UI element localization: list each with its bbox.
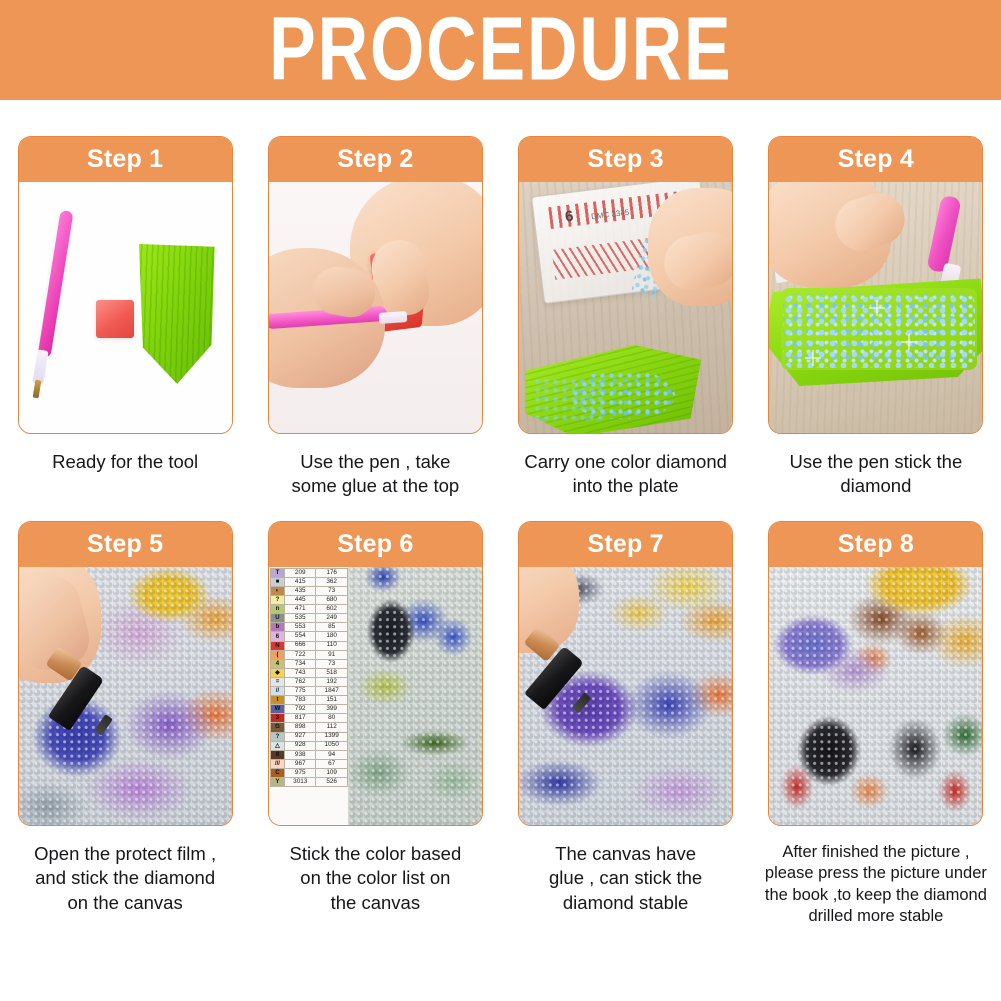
color-list-row: 473473 [270, 659, 347, 668]
color-symbol-cell: // [270, 687, 284, 696]
step-7-image [519, 567, 732, 825]
color-list-row: Y3013526 [270, 777, 347, 786]
color-count-cell: 67 [316, 759, 347, 768]
color-count-cell: 399 [316, 705, 347, 714]
color-list-row: ◆743518 [270, 668, 347, 677]
color-count-cell: 602 [316, 605, 347, 614]
color-list-row: G898112 [270, 723, 347, 732]
color-list-row: ◐43573 [270, 587, 347, 596]
color-list-row: ?9271399 [270, 732, 347, 741]
color-count-cell: 249 [316, 614, 347, 623]
step-card-3: Step 3 6 DMC 3345 [501, 136, 751, 499]
step-card-2: Step 2 Use the pen , take some glue at t… [250, 136, 500, 499]
color-list-row: △9281050 [270, 741, 347, 750]
color-list-row: ■415362 [270, 577, 347, 586]
color-symbol-cell: C [270, 768, 284, 777]
color-list-row: W792399 [270, 705, 347, 714]
color-list-row: 893894 [270, 750, 347, 759]
color-symbol-cell: ◆ [270, 668, 284, 677]
step-8-image [769, 567, 982, 825]
color-symbol-cell: b [270, 623, 284, 632]
color-code-cell: 817 [285, 714, 316, 723]
color-code-cell: 967 [285, 759, 316, 768]
color-list-table: T209176■415362◐43573?445680n471602U53524… [270, 568, 348, 787]
step-card-1: Step 1 Ready for the tool [0, 136, 250, 499]
step-7-caption: The canvas have glue , can stick the dia… [510, 842, 742, 915]
color-code-cell: 722 [285, 650, 316, 659]
color-count-cell: 91 [316, 650, 347, 659]
color-code-cell: 3013 [285, 777, 316, 786]
color-count-cell: 110 [316, 641, 347, 650]
drill-texture-icon [349, 567, 482, 825]
color-code-cell: 553 [285, 623, 316, 632]
color-list-row: 6554180 [270, 632, 347, 641]
color-code-cell: 927 [285, 732, 316, 741]
color-list-row: n471602 [270, 605, 347, 614]
color-symbol-cell: n [270, 605, 284, 614]
color-symbol-cell: N [270, 641, 284, 650]
color-code-cell: 415 [285, 577, 316, 586]
page-title: PROCEDURE [269, 5, 732, 95]
color-code-cell: 775 [285, 687, 316, 696]
step-3-caption: Carry one color diamond into the plate [510, 450, 742, 499]
color-symbol-cell: ( [270, 650, 284, 659]
color-count-cell: 180 [316, 632, 347, 641]
color-count-cell: 112 [316, 723, 347, 732]
step-4-caption: Use the pen stick the diamond [760, 450, 992, 499]
sparkle-icon [869, 300, 885, 316]
color-count-cell: 1847 [316, 687, 347, 696]
color-code-cell: 435 [285, 587, 316, 596]
color-code-cell: 975 [285, 768, 316, 777]
color-symbol-cell: Y [270, 777, 284, 786]
color-code-cell: 535 [285, 614, 316, 623]
step-2-card: Step 2 [268, 136, 483, 434]
color-count-cell: 1050 [316, 741, 347, 750]
color-code-cell: 938 [285, 750, 316, 759]
color-code-cell: 792 [285, 705, 316, 714]
color-count-cell: 362 [316, 577, 347, 586]
steps-row-1: Step 1 Ready for the tool [0, 100, 1001, 499]
color-symbol-cell: 6 [270, 632, 284, 641]
color-symbol-cell: = [270, 677, 284, 686]
color-symbol-cell: △ [270, 741, 284, 750]
color-list-row: C975109 [270, 768, 347, 777]
step-6-title: Step 6 [337, 530, 413, 559]
color-count-cell: 85 [316, 623, 347, 632]
drill-pile-icon [571, 371, 675, 419]
step-6-caption: Stick the color based on the color list … [259, 842, 491, 915]
color-list-row: ?445680 [270, 596, 347, 605]
color-list-row: ///96767 [270, 759, 347, 768]
glue-clay-icon [96, 300, 134, 338]
steps-grid: Step 1 Ready for the tool [0, 100, 1001, 928]
step-2-title: Step 2 [337, 145, 413, 174]
step-7-header: Step 7 [519, 522, 732, 567]
color-count-cell: 1399 [316, 732, 347, 741]
color-code-cell: 898 [285, 723, 316, 732]
color-symbol-cell: ■ [270, 577, 284, 586]
color-list-row: T209176 [270, 568, 347, 577]
color-code-cell: 734 [285, 659, 316, 668]
color-symbol-cell: ◐ [270, 587, 284, 596]
color-symbol-cell: G [270, 723, 284, 732]
step-4-header: Step 4 [769, 137, 982, 182]
step-1-title: Step 1 [87, 145, 163, 174]
color-count-cell: 192 [316, 677, 347, 686]
step-4-card: Step 4 [768, 136, 983, 434]
color-symbol-cell: 3 [270, 714, 284, 723]
color-code-cell: 554 [285, 632, 316, 641]
sparkle-icon [901, 334, 917, 350]
step-1-image [19, 182, 232, 433]
color-symbol-cell: /// [270, 759, 284, 768]
step-card-8: Step 8 After finished the picture , plea… [751, 521, 1001, 928]
color-symbol-cell: U [270, 614, 284, 623]
color-list-row: =762192 [270, 677, 347, 686]
step-2-image [269, 182, 482, 433]
step-1-caption: Ready for the tool [9, 450, 241, 474]
color-symbol-cell: T [270, 568, 284, 577]
color-list-row: U535249 [270, 614, 347, 623]
page-banner: PROCEDURE [0, 0, 1001, 100]
color-symbol-cell: ? [270, 596, 284, 605]
color-symbol-cell: ? [270, 732, 284, 741]
step-8-caption: After finished the picture , please pres… [754, 842, 998, 928]
color-count-cell: 73 [316, 659, 347, 668]
color-symbol-cell: 8 [270, 750, 284, 759]
color-list-row: N666110 [270, 641, 347, 650]
color-count-cell: 518 [316, 668, 347, 677]
color-code-cell: 445 [285, 596, 316, 605]
color-list-row: (72291 [270, 650, 347, 659]
step-2-header: Step 2 [269, 137, 482, 182]
step-card-7: Step 7 The canvas have glue , can stick … [501, 521, 751, 928]
step-7-title: Step 7 [588, 530, 664, 559]
step-8-card: Step 8 [768, 521, 983, 826]
color-count-cell: 80 [316, 714, 347, 723]
color-list-row: b55385 [270, 623, 347, 632]
steps-row-2: Step 5 Open the protect film , and stick… [0, 499, 1001, 928]
drill-texture-icon [769, 567, 982, 825]
sparkle-icon [805, 350, 821, 366]
step-2-caption: Use the pen , take some glue at the top [259, 450, 491, 499]
color-count-cell: 94 [316, 750, 347, 759]
color-code-cell: 762 [285, 677, 316, 686]
step-1-header: Step 1 [19, 137, 232, 182]
step-card-5: Step 5 Open the protect film , and stick… [0, 521, 250, 928]
color-count-cell: 151 [316, 696, 347, 705]
color-count-cell: 526 [316, 777, 347, 786]
procedure-infographic: PROCEDURE Step 1 [0, 0, 1001, 1001]
step-6-canvas [349, 567, 482, 825]
step-3-title: Step 3 [588, 145, 664, 174]
color-list-row: t783151 [270, 696, 347, 705]
color-count-cell: 109 [316, 768, 347, 777]
color-count-cell: 73 [316, 587, 347, 596]
color-count-cell: 680 [316, 596, 347, 605]
step-3-image: 6 DMC 3345 [519, 182, 732, 433]
color-list-row: //7751847 [270, 687, 347, 696]
step-5-image [19, 567, 232, 825]
pen-tip-icon [32, 349, 48, 384]
color-code-cell: 783 [285, 696, 316, 705]
color-list-row: 381780 [270, 714, 347, 723]
step-6-card: Step 6 T209176■415362◐43573?445680n47160… [268, 521, 483, 826]
step-8-title: Step 8 [838, 530, 914, 559]
tray-grooves-icon [137, 244, 215, 384]
step-card-6: Step 6 T209176■415362◐43573?445680n47160… [250, 521, 500, 928]
color-code-cell: 928 [285, 741, 316, 750]
color-list-chart: T209176■415362◐43573?445680n471602U53524… [269, 567, 349, 825]
step-3-header: Step 3 [519, 137, 732, 182]
step-1-card: Step 1 [18, 136, 233, 434]
color-code-cell: 471 [285, 605, 316, 614]
color-code-cell: 666 [285, 641, 316, 650]
color-code-cell: 743 [285, 668, 316, 677]
step-4-image [769, 182, 982, 433]
pink-pen-icon [927, 195, 962, 273]
pen-tip-icon [379, 311, 408, 324]
step-5-caption: Open the protect film , and stick the di… [9, 842, 241, 915]
pink-pen-icon [37, 210, 73, 358]
step-6-image: T209176■415362◐43573?445680n471602U53524… [269, 567, 482, 825]
step-5-header: Step 5 [19, 522, 232, 567]
step-6-header: Step 6 [269, 522, 482, 567]
color-symbol-cell: 4 [270, 659, 284, 668]
step-5-card: Step 5 [18, 521, 233, 826]
step-5-title: Step 5 [87, 530, 163, 559]
step-7-card: Step 7 [518, 521, 733, 826]
color-symbol-cell: t [270, 696, 284, 705]
step-card-4: Step 4 [751, 136, 1001, 499]
step-4-title: Step 4 [838, 145, 914, 174]
color-code-cell: 209 [285, 568, 316, 577]
step-8-header: Step 8 [769, 522, 982, 567]
color-symbol-cell: W [270, 705, 284, 714]
step-3-card: Step 3 6 DMC 3345 [518, 136, 733, 434]
color-count-cell: 176 [316, 568, 347, 577]
